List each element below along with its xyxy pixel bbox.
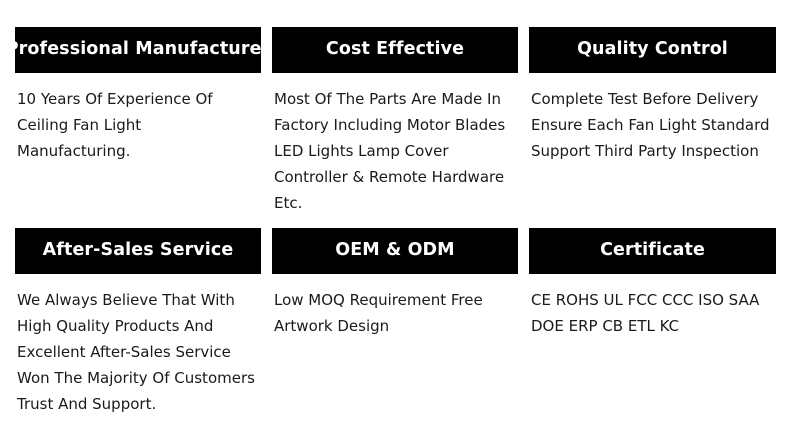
- feature-card-certificate: Certificate CE ROHS UL FCC CCC ISO SAA D…: [529, 228, 776, 429]
- feature-card-title: Professional Manufacturer: [15, 27, 261, 73]
- feature-card-title: After-Sales Service: [15, 228, 261, 274]
- feature-card-body: Most Of The Parts Are Made In Factory In…: [272, 73, 518, 216]
- feature-card-professional-manufacturer: Professional Manufacturer 10 Years Of Ex…: [15, 27, 261, 228]
- feature-card-oem-odm: OEM & ODM Low MOQ Requirement Free Artwo…: [272, 228, 518, 429]
- feature-card-title: Certificate: [529, 228, 776, 274]
- feature-card-body: Complete Test Before Delivery Ensure Eac…: [529, 73, 776, 164]
- feature-card-body: Low MOQ Requirement Free Artwork Design: [272, 274, 518, 339]
- feature-card-title: Cost Effective: [272, 27, 518, 73]
- feature-card-title: OEM & ODM: [272, 228, 518, 274]
- feature-card-after-sales-service: After-Sales Service We Always Believe Th…: [15, 228, 261, 429]
- feature-cards-grid: Professional Manufacturer 10 Years Of Ex…: [0, 0, 790, 443]
- feature-card-quality-control: Quality Control Complete Test Before Del…: [529, 27, 776, 228]
- feature-card-title: Quality Control: [529, 27, 776, 73]
- feature-card-body: We Always Believe That With High Quality…: [15, 274, 261, 417]
- feature-card-cost-effective: Cost Effective Most Of The Parts Are Mad…: [272, 27, 518, 228]
- feature-card-body: CE ROHS UL FCC CCC ISO SAA DOE ERP CB ET…: [529, 274, 776, 339]
- feature-card-body: 10 Years Of Experience Of Ceiling Fan Li…: [15, 73, 261, 164]
